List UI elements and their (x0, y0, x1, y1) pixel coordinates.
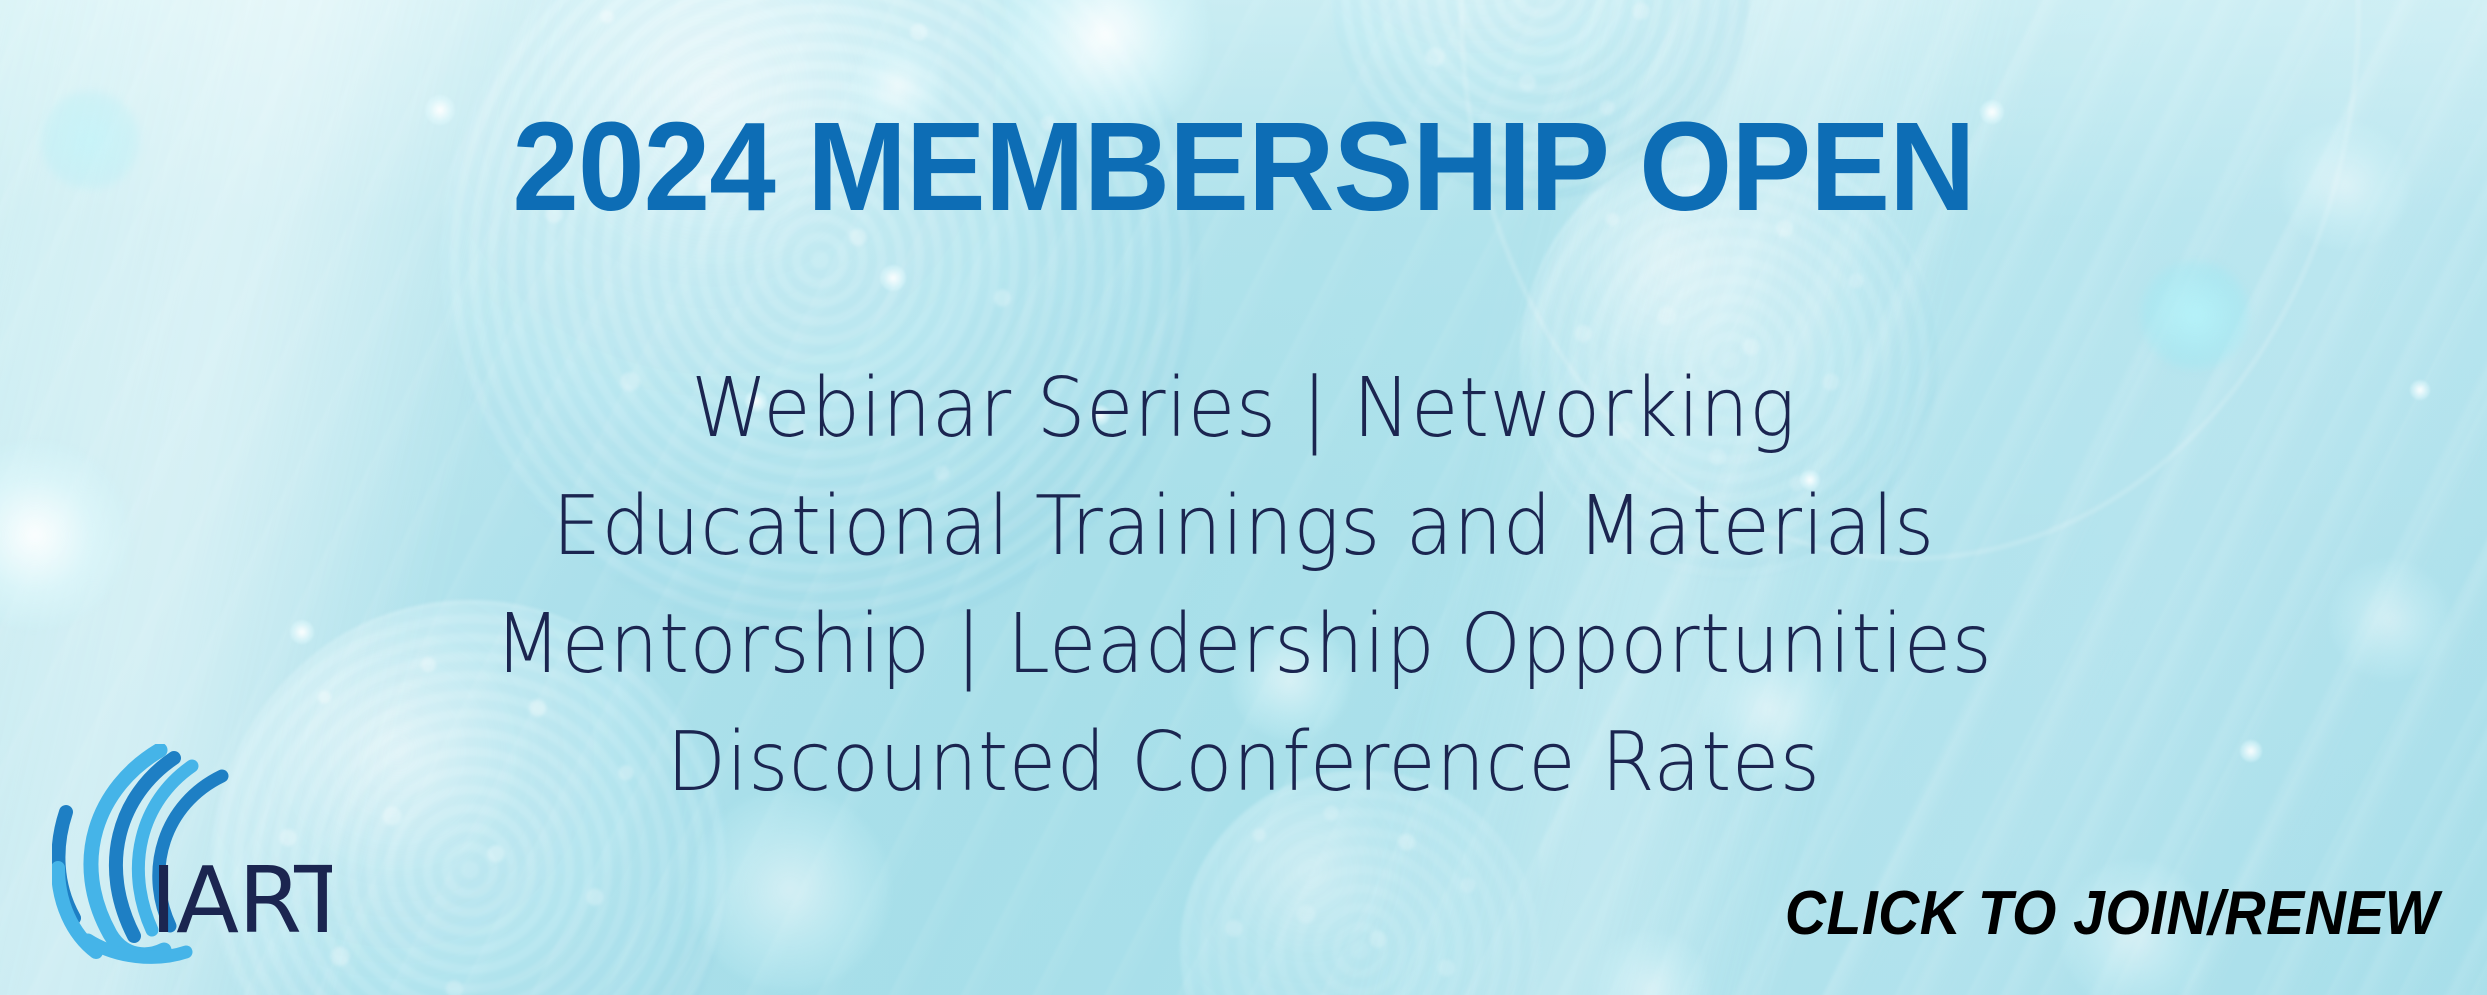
iart-wordmark: IART (150, 847, 332, 954)
benefit-line: Mentorship | Leadership Opportunities (75, 586, 2413, 704)
benefit-line: Educational Trainings and Materials (75, 468, 2413, 586)
benefits-list: Webinar Series | Networking Educational … (0, 350, 2487, 822)
membership-banner: 2024 MEMBERSHIP OPEN Webinar Series | Ne… (0, 0, 2487, 995)
page-title: 2024 MEMBERSHIP OPEN (62, 104, 2425, 230)
benefit-line: Webinar Series | Networking (75, 350, 2413, 468)
iart-logo[interactable]: IART IART (52, 744, 332, 970)
benefit-line: Discounted Conference Rates (75, 704, 2413, 822)
join-renew-cta[interactable]: CLICK TO JOIN/RENEW (1785, 878, 2439, 949)
